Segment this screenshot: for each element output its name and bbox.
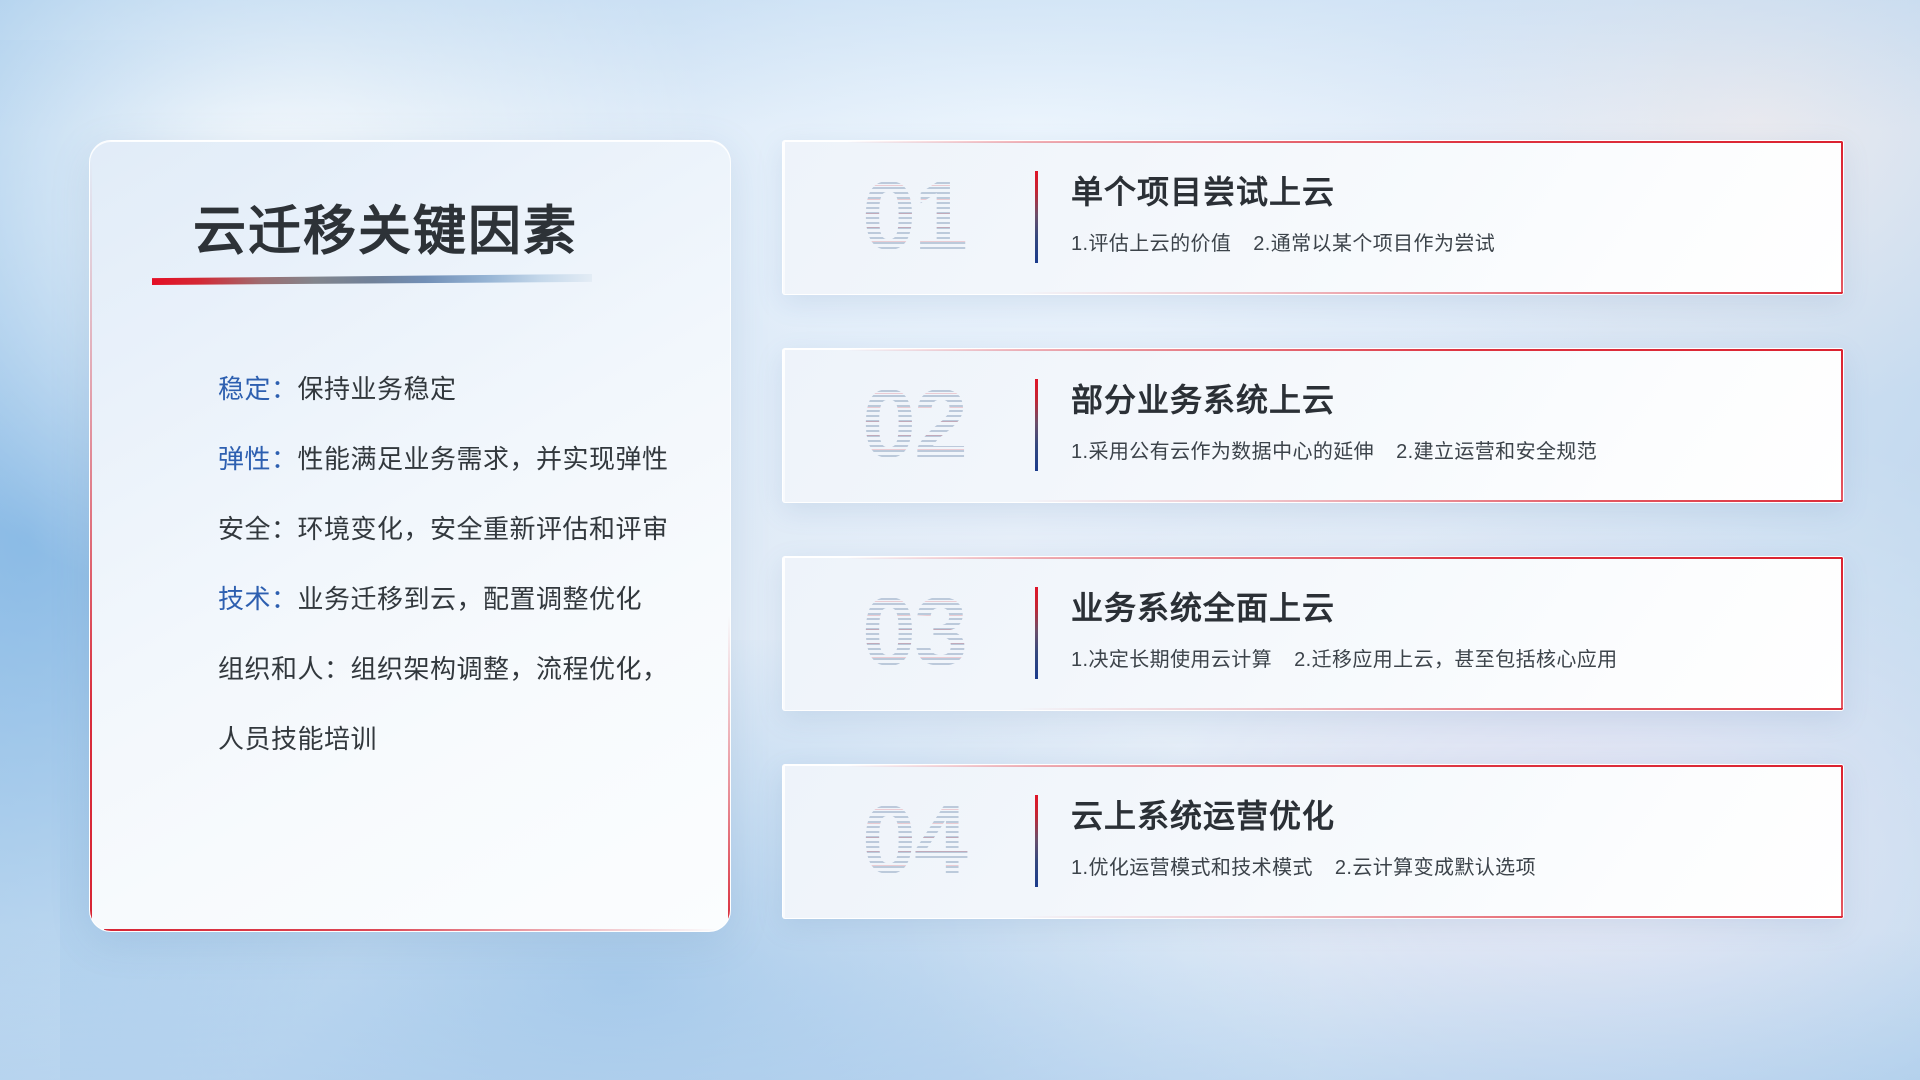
slide-canvas: 云迁移关键因素 稳定：保持业务稳定 弹性：性能满足业务需求，并实现弹性 安全：环… — [0, 0, 1920, 1080]
list-item: 人员技能培训 — [218, 721, 690, 759]
stage-point-1: 1.采用公有云作为数据中心的延伸 — [1071, 441, 1374, 463]
list-item-text: 环境变化，安全重新评估和评审 — [298, 514, 669, 544]
stage-number-overlay: 02 — [819, 365, 1009, 483]
stage-point-2: 2.迁移应用上云，甚至包括核心应用 — [1294, 649, 1617, 671]
stage-point-2: 2.通常以某个项目作为尝试 — [1253, 233, 1495, 255]
list-item-key: 安全： — [218, 514, 298, 544]
stage-point-2: 2.云计算变成默认选项 — [1335, 857, 1536, 879]
card-right-accent — [1841, 141, 1843, 294]
card-right-accent — [1841, 349, 1843, 502]
list-item-text: 业务迁移到云，配置调整优化 — [298, 584, 643, 614]
stage-point-2: 2.建立运营和安全规范 — [1396, 441, 1597, 463]
stage-points: 1.决定长期使用云计算2.迁移应用上云，甚至包括核心应用 — [1071, 643, 1618, 672]
card-divider-line — [1035, 379, 1038, 471]
card-left-highlight — [783, 349, 785, 502]
stage-point-1: 1.评估上云的价值 — [1071, 233, 1231, 255]
key-factors-list: 稳定：保持业务稳定 弹性：性能满足业务需求，并实现弹性 安全：环境变化，安全重新… — [218, 371, 690, 759]
stage-card-01[interactable]: 01 01 单个项目尝试上云 1.评估上云的价值2.通常以某个项目作为尝试 — [782, 140, 1844, 295]
card-right-accent — [1841, 765, 1843, 918]
card-left-highlight — [783, 765, 785, 918]
panel-right-accent — [728, 615, 730, 921]
panel-left-accent — [90, 159, 92, 921]
stage-points: 1.采用公有云作为数据中心的延伸2.建立运营和安全规范 — [1071, 435, 1597, 464]
list-item-text: 组织架构调整，流程优化， — [351, 654, 669, 684]
list-item-key: 组织和人： — [218, 654, 351, 684]
card-left-highlight — [783, 141, 785, 294]
page-title: 云迁移关键因素 — [193, 189, 578, 265]
panel-bottom-accent — [104, 929, 720, 931]
card-top-accent — [847, 765, 1843, 767]
stage-points: 1.评估上云的价值2.通常以某个项目作为尝试 — [1071, 227, 1495, 256]
list-item-text: 人员技能培训 — [218, 724, 377, 754]
stage-card-03[interactable]: 03 03 业务系统全面上云 1.决定长期使用云计算2.迁移应用上云，甚至包括核… — [782, 556, 1844, 711]
card-right-accent — [1841, 557, 1843, 710]
stage-title: 业务系统全面上云 — [1071, 583, 1335, 629]
list-item-text: 性能满足业务需求，并实现弹性 — [298, 444, 669, 474]
card-bottom-accent — [1016, 708, 1843, 710]
list-item: 稳定：保持业务稳定 — [218, 371, 690, 409]
card-bottom-accent — [1016, 500, 1843, 502]
stage-points: 1.优化运营模式和技术模式2.云计算变成默认选项 — [1071, 851, 1536, 880]
list-item-key: 弹性： — [218, 444, 298, 474]
stage-number-overlay: 03 — [819, 573, 1009, 691]
list-item-key: 稳定： — [218, 374, 298, 404]
stage-point-1: 1.优化运营模式和技术模式 — [1071, 857, 1313, 879]
stage-card-02[interactable]: 02 02 部分业务系统上云 1.采用公有云作为数据中心的延伸2.建立运营和安全… — [782, 348, 1844, 503]
list-item: 组织和人：组织架构调整，流程优化， — [218, 651, 690, 689]
stage-card-04[interactable]: 04 04 云上系统运营优化 1.优化运营模式和技术模式2.云计算变成默认选项 — [782, 764, 1844, 919]
card-left-highlight — [783, 557, 785, 710]
stage-point-1: 1.决定长期使用云计算 — [1071, 649, 1272, 671]
card-top-accent — [847, 349, 1843, 351]
card-divider-line — [1035, 795, 1038, 887]
stage-title: 部分业务系统上云 — [1071, 375, 1335, 421]
card-bottom-accent — [1016, 292, 1843, 294]
stage-number-overlay: 04 — [819, 781, 1009, 899]
stage-title: 单个项目尝试上云 — [1071, 167, 1335, 213]
stage-number-overlay: 01 — [819, 157, 1009, 275]
list-item-text: 保持业务稳定 — [298, 374, 457, 404]
title-underline-gradient — [152, 274, 592, 285]
key-factors-panel: 云迁移关键因素 稳定：保持业务稳定 弹性：性能满足业务需求，并实现弹性 安全：环… — [89, 140, 731, 932]
card-divider-line — [1035, 171, 1038, 263]
card-bottom-accent — [1016, 916, 1843, 918]
list-item: 技术：业务迁移到云，配置调整优化 — [218, 581, 690, 619]
card-top-accent — [847, 557, 1843, 559]
list-item-key: 技术： — [218, 584, 298, 614]
card-divider-line — [1035, 587, 1038, 679]
list-item: 安全：环境变化，安全重新评估和评审 — [218, 511, 690, 549]
card-top-accent — [847, 141, 1843, 143]
stage-title: 云上系统运营优化 — [1071, 791, 1335, 837]
list-item: 弹性：性能满足业务需求，并实现弹性 — [218, 441, 690, 479]
